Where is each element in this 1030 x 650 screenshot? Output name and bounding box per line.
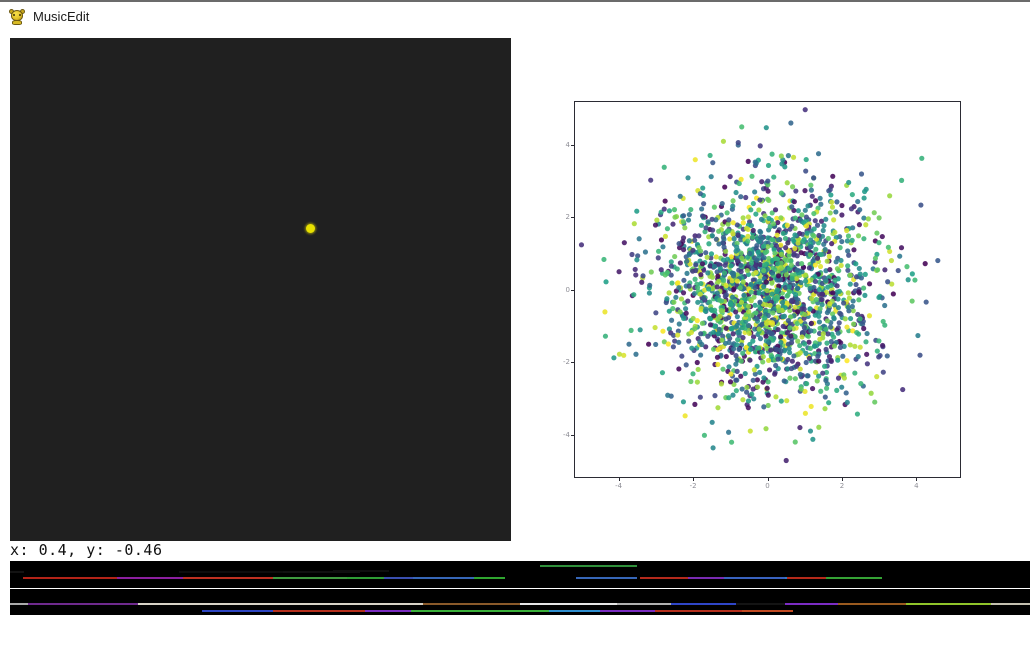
track-segment[interactable]	[365, 610, 416, 612]
track-segment[interactable]	[411, 610, 554, 612]
y-tick-label: -4	[552, 431, 570, 439]
x-tick-mark	[619, 478, 620, 481]
track-segment[interactable]	[10, 603, 30, 605]
track-segment[interactable]	[520, 603, 622, 605]
track-segment[interactable]	[576, 577, 637, 579]
track-segment[interactable]	[724, 577, 785, 579]
plot-axes-frame	[574, 101, 961, 478]
x-tick-label: -4	[615, 482, 622, 490]
scatter-points	[575, 102, 960, 477]
track-segment[interactable]	[549, 610, 605, 612]
y-tick-mark	[571, 217, 574, 218]
track-segment[interactable]	[10, 571, 24, 573]
track-segment[interactable]	[28, 603, 140, 605]
track-segment[interactable]	[183, 577, 275, 579]
y-tick-label: 2	[552, 213, 570, 221]
coordinate-readout: x: 0.4, y: -0.46	[10, 541, 511, 559]
track-segment[interactable]	[906, 603, 998, 605]
x-tick-mark	[916, 478, 917, 481]
x-tick-label: 2	[840, 482, 844, 490]
y-tick-mark	[571, 435, 574, 436]
y-tick-mark	[571, 145, 574, 146]
y-tick-label: 0	[552, 286, 570, 294]
track-segment[interactable]	[600, 610, 659, 612]
track-segment[interactable]	[423, 603, 525, 605]
track-segment[interactable]	[179, 571, 286, 573]
track-segment[interactable]	[333, 570, 389, 572]
track-segment[interactable]	[347, 577, 385, 579]
y-tick-label: -2	[552, 358, 570, 366]
x-tick-label: 4	[914, 482, 918, 490]
track-segment[interactable]	[838, 603, 909, 605]
track-segment[interactable]	[785, 603, 841, 605]
cursor-marker	[306, 224, 315, 233]
x-tick-label: -2	[690, 482, 697, 490]
track-segment[interactable]	[736, 603, 792, 605]
track-strip-2[interactable]	[10, 589, 1030, 615]
y-tick-label: 4	[552, 141, 570, 149]
x-tick-mark	[842, 478, 843, 481]
track-segment[interactable]	[655, 610, 747, 612]
y-tick-mark	[571, 362, 574, 363]
track-segment[interactable]	[787, 577, 828, 579]
track-segment[interactable]	[413, 577, 474, 579]
track-strip-1[interactable]	[10, 561, 1030, 588]
track-segment[interactable]	[991, 603, 1030, 605]
track-segment[interactable]	[826, 577, 882, 579]
track-segment[interactable]	[617, 603, 678, 605]
track-segment[interactable]	[671, 603, 742, 605]
window-title-bar: MusicEdit	[0, 0, 1030, 31]
x-tick-mark	[768, 478, 769, 481]
x-tick-label: 0	[765, 482, 769, 490]
scatter-plot-panel: -4-2024-4-2024	[540, 60, 1010, 520]
y-tick-mark	[571, 290, 574, 291]
app-monkey-icon	[9, 9, 25, 25]
track-segment[interactable]	[742, 610, 793, 612]
track-segment[interactable]	[202, 610, 282, 612]
window-title: MusicEdit	[33, 10, 89, 23]
track-segment[interactable]	[138, 603, 429, 605]
track-segment[interactable]	[540, 565, 637, 567]
note-editor-canvas[interactable]	[10, 38, 511, 541]
track-segment[interactable]	[273, 610, 370, 612]
x-tick-mark	[693, 478, 694, 481]
